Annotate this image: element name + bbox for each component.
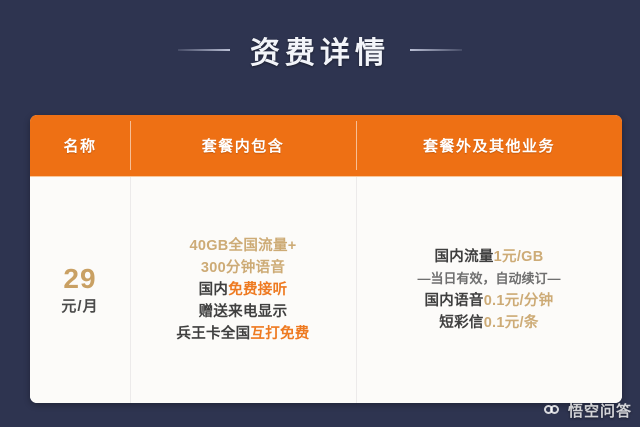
included-segment: 300分钟语音 [201, 260, 285, 276]
extra-line: 国内语音0.1元/分钟 [417, 290, 560, 312]
included-segment: 赠送来电显示 [199, 304, 288, 320]
tariff-detail-card: 名称 套餐内包含 套餐外及其他业务 29 元/月 40GB全国流量+300分钟语… [30, 115, 622, 403]
watermark: 悟空问答 [544, 400, 632, 421]
extra-list: 国内流量1元/GB—当日有效，自动续订—国内语音0.1元/分钟短彩信0.1元/条 [417, 246, 560, 334]
table-header-extra: 套餐外及其他业务 [356, 115, 622, 176]
table-header-included: 套餐内包含 [130, 115, 356, 176]
included-segment: 国内 [199, 282, 229, 298]
included-segment: 40GB全国流量+ [189, 238, 296, 254]
included-line: 国内免费接听 [176, 279, 309, 301]
price-cell: 29 元/月 [30, 177, 130, 403]
wukong-eyes-logo-icon [544, 404, 563, 417]
table-header-row: 名称 套餐内包含 套餐外及其他业务 [30, 115, 622, 177]
extra-line: 短彩信0.1元/条 [417, 312, 560, 334]
page-title: 资费详情 [250, 28, 390, 72]
included-cell: 40GB全国流量+300分钟语音国内免费接听赠送来电显示兵王卡全国互打免费 [130, 177, 356, 403]
included-segment: 兵王卡全国 [176, 326, 250, 342]
included-line: 兵王卡全国互打免费 [176, 323, 309, 345]
included-list: 40GB全国流量+300分钟语音国内免费接听赠送来电显示兵王卡全国互打免费 [176, 235, 309, 345]
table-body-row: 29 元/月 40GB全国流量+300分钟语音国内免费接听赠送来电显示兵王卡全国… [30, 177, 622, 403]
extra-segment: 0.1元/分钟 [484, 293, 554, 309]
included-line: 40GB全国流量+ [176, 235, 309, 257]
extra-line: 国内流量1元/GB [417, 246, 560, 268]
title-dash-left [178, 49, 230, 51]
extra-segment: 国内流量 [434, 249, 493, 265]
extra-cell: 国内流量1元/GB—当日有效，自动续订—国内语音0.1元/分钟短彩信0.1元/条 [356, 177, 622, 403]
price-amount: 29 [63, 264, 96, 293]
table-header-name: 名称 [30, 115, 130, 176]
included-line: 300分钟语音 [176, 257, 309, 279]
included-line: 赠送来电显示 [176, 301, 309, 323]
extra-segment: 国内语音 [424, 293, 483, 309]
included-segment: 免费接听 [228, 282, 287, 298]
extra-segment: —当日有效，自动续订— [417, 271, 560, 286]
page-title-row: 资费详情 [0, 28, 640, 72]
extra-line: —当日有效，自动续订— [417, 268, 560, 290]
price-unit: 元/月 [61, 295, 98, 316]
extra-segment: 0.1元/条 [484, 315, 539, 331]
included-segment: 互打免费 [250, 326, 309, 342]
extra-segment: 1元/GB [494, 249, 544, 265]
extra-segment: 短彩信 [439, 315, 483, 331]
title-dash-right [410, 49, 462, 51]
watermark-label: 悟空问答 [568, 400, 632, 421]
